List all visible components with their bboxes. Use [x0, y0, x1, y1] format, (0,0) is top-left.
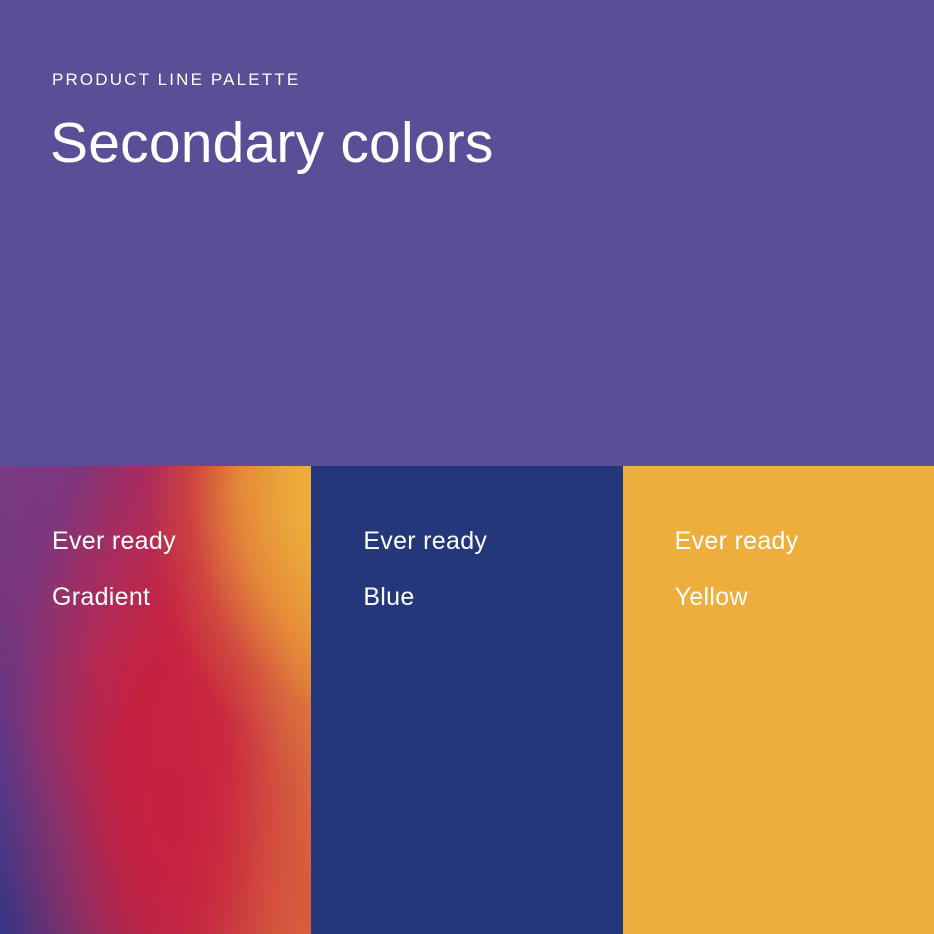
eyebrow-label: PRODUCT LINE PALETTE [52, 67, 300, 93]
swatch-row: Ever ready Gradient Ever ready Blue Ever… [0, 466, 934, 934]
swatch-card-yellow[interactable]: Ever ready Yellow [623, 466, 934, 934]
swatch-line-secondary: Gradient [52, 580, 299, 614]
swatch-card-blue[interactable]: Ever ready Blue [311, 466, 622, 934]
swatch-line-primary: Ever ready [363, 524, 610, 558]
poster-header: PRODUCT LINE PALETTE Secondary colors [0, 0, 934, 466]
swatch-card-gradient[interactable]: Ever ready Gradient [0, 466, 311, 934]
swatch-labels-blue: Ever ready Blue [363, 524, 610, 614]
secondary-colors-poster: PRODUCT LINE PALETTE Secondary colors Ev… [0, 0, 934, 934]
page-title: Secondary colors [50, 106, 494, 180]
swatch-line-primary: Ever ready [52, 524, 299, 558]
swatch-labels-yellow: Ever ready Yellow [675, 524, 922, 614]
swatch-labels-gradient: Ever ready Gradient [52, 524, 299, 614]
swatch-line-secondary: Yellow [675, 580, 922, 614]
swatch-line-primary: Ever ready [675, 524, 922, 558]
swatch-line-secondary: Blue [363, 580, 610, 614]
